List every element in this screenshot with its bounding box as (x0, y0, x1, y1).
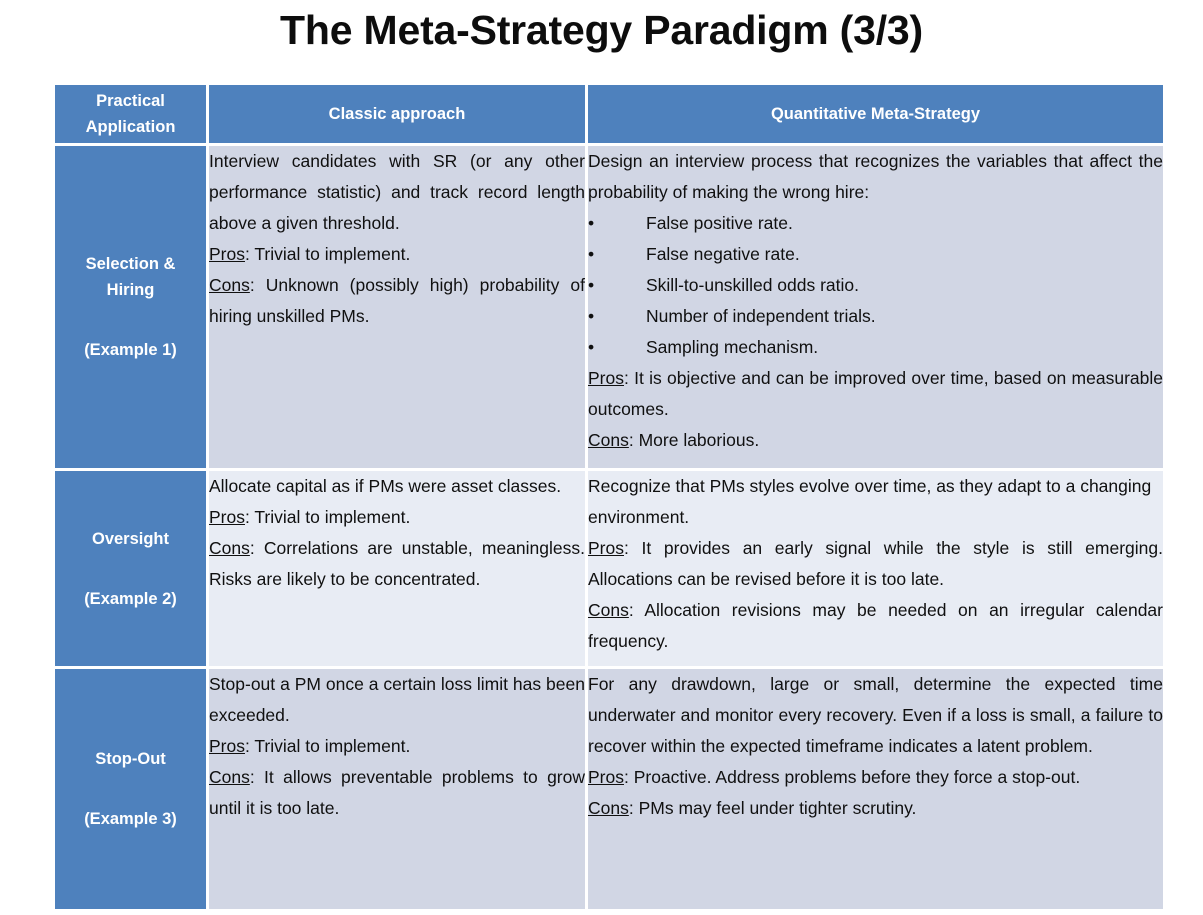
quant-intro: For any drawdown, large or small, determ… (588, 669, 1163, 762)
classic-pros: Pros: Trivial to implement. (209, 239, 585, 270)
pros-label: Pros (209, 736, 245, 756)
pros-label: Pros (588, 767, 624, 787)
pros-label: Pros (209, 507, 245, 527)
header-app-line2: Application (86, 118, 176, 136)
list-item: Sampling mechanism. (588, 332, 1163, 363)
pros-text: : It provides an early signal while the … (588, 538, 1163, 589)
row-label-oversight: Oversight (Example 2) (55, 471, 206, 666)
cons-text: : Unknown (possibly high) probability of… (209, 275, 585, 326)
cons-text: : Correlations are unstable, meaningless… (209, 538, 585, 589)
row-label-line2: Hiring (55, 277, 206, 303)
list-item: Skill-to-unskilled odds ratio. (588, 270, 1163, 301)
cons-label: Cons (209, 538, 250, 558)
cons-text: : More laborious. (629, 430, 759, 450)
cons-label: Cons (588, 430, 629, 450)
list-item: False positive rate. (588, 208, 1163, 239)
cell-classic-selection-hiring: Interview candidates with SR (or any oth… (209, 146, 585, 468)
cell-quantitative-oversight: Recognize that PMs styles evolve over ti… (588, 471, 1163, 666)
pros-text: : It is objective and can be improved ov… (588, 368, 1163, 419)
quant-bullet-list: False positive rate. False negative rate… (588, 208, 1163, 363)
cell-quantitative-stop-out: For any drawdown, large or small, determ… (588, 669, 1163, 909)
row-label-line1: Oversight (55, 526, 206, 552)
pros-text: : Trivial to implement. (245, 244, 410, 264)
classic-intro: Interview candidates with SR (or any oth… (209, 146, 585, 239)
table-row: Selection & Hiring (Example 1) Interview… (55, 146, 1163, 468)
quant-pros: Pros: It provides an early signal while … (588, 533, 1163, 595)
classic-intro: Allocate capital as if PMs were asset cl… (209, 471, 585, 502)
classic-cons: Cons: Unknown (possibly high) probabilit… (209, 270, 585, 332)
column-header-practical-application: Practical Application (55, 85, 206, 143)
column-header-classic-approach: Classic approach (209, 85, 585, 143)
classic-cons: Cons: It allows preventable problems to … (209, 762, 585, 824)
cell-quantitative-selection-hiring: Design an interview process that recogni… (588, 146, 1163, 468)
row-example-tag: (Example 1) (55, 337, 206, 363)
cons-label: Cons (588, 798, 629, 818)
quant-cons: Cons: PMs may feel under tighter scrutin… (588, 793, 1163, 824)
row-label-line1: Stop-Out (55, 746, 206, 772)
quant-intro: Design an interview process that recogni… (588, 146, 1163, 208)
row-label-stop-out: Stop-Out (Example 3) (55, 669, 206, 909)
cons-text: : PMs may feel under tighter scrutiny. (629, 798, 917, 818)
classic-intro: Stop-out a PM once a certain loss limit … (209, 669, 585, 731)
table-row: Stop-Out (Example 3) Stop-out a PM once … (55, 669, 1163, 909)
quant-pros: Pros: It is objective and can be improve… (588, 363, 1163, 425)
strategy-comparison-table: Practical Application Classic approach Q… (52, 82, 1166, 912)
cell-classic-stop-out: Stop-out a PM once a certain loss limit … (209, 669, 585, 909)
table-row: Oversight (Example 2) Allocate capital a… (55, 471, 1163, 666)
page-title: The Meta-Strategy Paradigm (3/3) (0, 0, 1203, 72)
cons-label: Cons (588, 600, 629, 620)
pros-label: Pros (588, 368, 624, 388)
cons-text: : Allocation revisions may be needed on … (588, 600, 1163, 651)
list-item: Number of independent trials. (588, 301, 1163, 332)
quant-cons: Cons: More laborious. (588, 425, 1163, 456)
pros-text: : Trivial to implement. (245, 507, 410, 527)
cons-label: Cons (209, 275, 250, 295)
quant-intro: Recognize that PMs styles evolve over ti… (588, 471, 1163, 533)
pros-text: : Proactive. Address problems before the… (624, 767, 1080, 787)
row-label-line1: Selection & (55, 251, 206, 277)
table-header-row: Practical Application Classic approach Q… (55, 85, 1163, 143)
list-item: False negative rate. (588, 239, 1163, 270)
pros-label: Pros (588, 538, 624, 558)
header-app-line1: Practical (96, 92, 165, 110)
cell-classic-oversight: Allocate capital as if PMs were asset cl… (209, 471, 585, 666)
cons-label: Cons (209, 767, 250, 787)
classic-pros: Pros: Trivial to implement. (209, 502, 585, 533)
pros-label: Pros (209, 244, 245, 264)
quant-pros: Pros: Proactive. Address problems before… (588, 762, 1163, 793)
classic-cons: Cons: Correlations are unstable, meaning… (209, 533, 585, 595)
classic-pros: Pros: Trivial to implement. (209, 731, 585, 762)
slide-canvas: The Meta-Strategy Paradigm (3/3) Practic… (0, 0, 1203, 915)
pros-text: : Trivial to implement. (245, 736, 410, 756)
row-example-tag: (Example 2) (55, 586, 206, 612)
cons-text: : It allows preventable problems to grow… (209, 767, 585, 818)
column-header-quantitative-meta-strategy: Quantitative Meta-Strategy (588, 85, 1163, 143)
row-label-selection-hiring: Selection & Hiring (Example 1) (55, 146, 206, 468)
row-example-tag: (Example 3) (55, 806, 206, 832)
quant-cons: Cons: Allocation revisions may be needed… (588, 595, 1163, 657)
